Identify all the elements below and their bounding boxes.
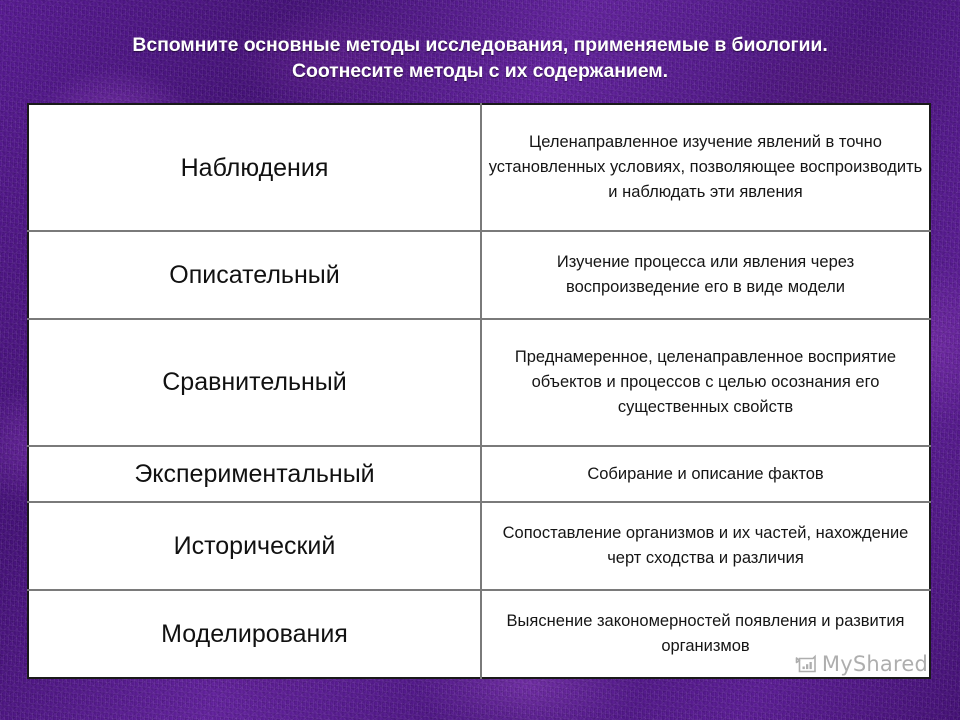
methods-table: Наблюдения Целенаправленное изучение явл… — [27, 103, 931, 679]
method-name-cell: Описательный — [28, 231, 481, 319]
table-row: Моделирования Выяснение закономерностей … — [28, 590, 930, 678]
methods-table-body: Наблюдения Целенаправленное изучение явл… — [28, 104, 930, 678]
table-row: Наблюдения Целенаправленное изучение явл… — [28, 104, 930, 231]
table-row: Сравнительный Преднамеренное, целенаправ… — [28, 319, 930, 446]
method-description-cell: Сопоставление организмов и их частей, на… — [481, 502, 930, 590]
method-description-cell: Выяснение закономерностей появления и ра… — [481, 590, 930, 678]
method-name-cell: Экспериментальный — [28, 446, 481, 502]
method-description-cell: Собирание и описание фактов — [481, 446, 930, 502]
table-row: Экспериментальный Собирание и описание ф… — [28, 446, 930, 502]
method-description-cell: Преднамеренное, целенаправленное восприя… — [481, 319, 930, 446]
table-row: Описательный Изучение процесса или явлен… — [28, 231, 930, 319]
method-name-cell: Сравнительный — [28, 319, 481, 446]
title-line-2: Соотнесите методы с их содержанием. — [0, 58, 960, 84]
title-line-1: Вспомните основные методы исследования, … — [0, 32, 960, 58]
method-name-cell: Наблюдения — [28, 104, 481, 231]
method-description-cell: Изучение процесса или явления через восп… — [481, 231, 930, 319]
method-name-cell: Исторический — [28, 502, 481, 590]
slide-title: Вспомните основные методы исследования, … — [0, 32, 960, 84]
method-name-cell: Моделирования — [28, 590, 481, 678]
table-row: Исторический Сопоставление организмов и … — [28, 502, 930, 590]
method-description-cell: Целенаправленное изучение явлений в точн… — [481, 104, 930, 231]
slide-background: Вспомните основные методы исследования, … — [0, 0, 960, 720]
